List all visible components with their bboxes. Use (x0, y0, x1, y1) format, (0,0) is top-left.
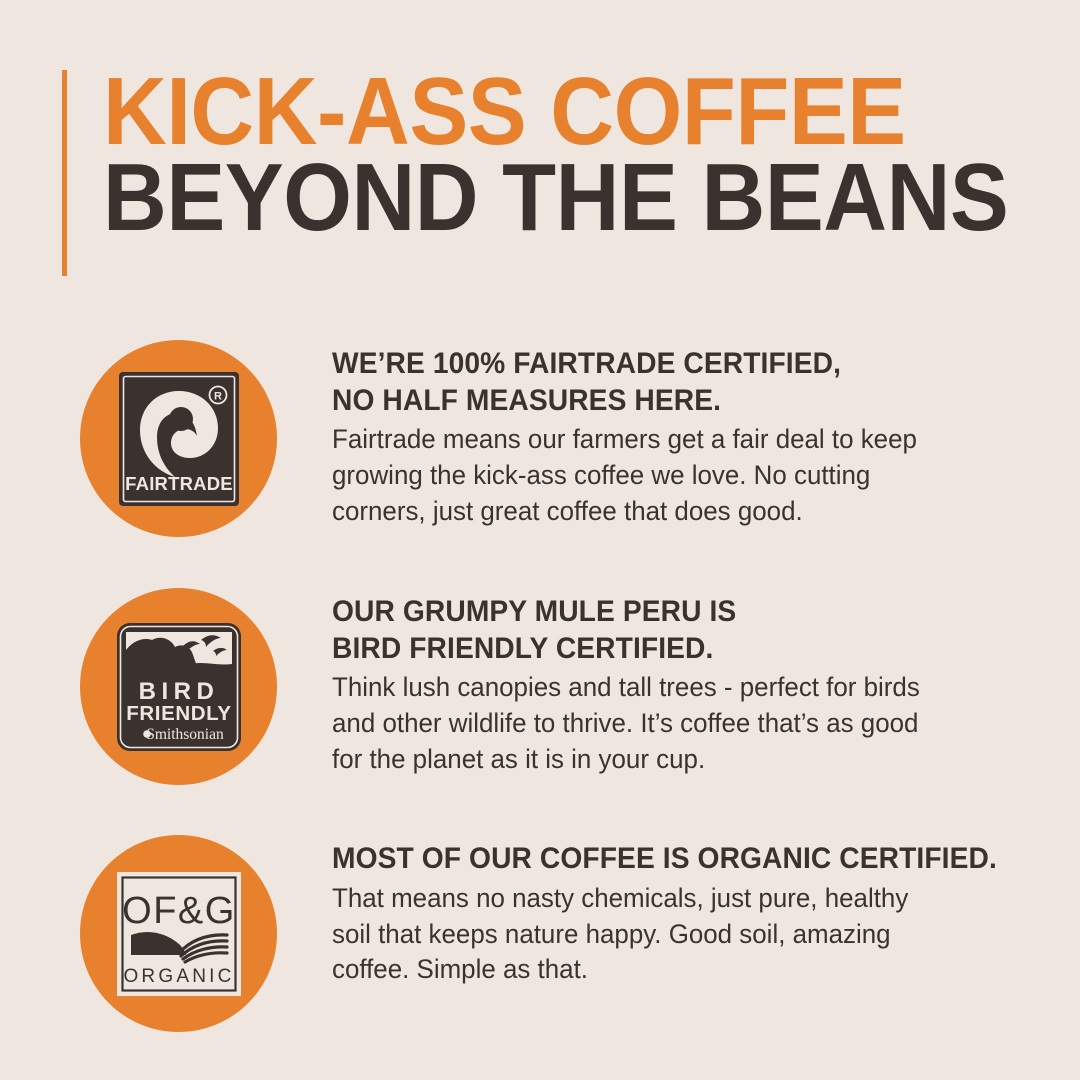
body-line: corners, just great coffee that does goo… (332, 494, 994, 530)
feature-heading-organic: MOST OF OUR COFFEE IS ORGANIC CERTIFIED. (332, 841, 981, 878)
bird-wordmark: BIRD (138, 678, 219, 705)
heading-line: BIRD FRIENDLY CERTIFIED. (332, 631, 981, 668)
feature-text-bird-friendly: OUR GRUMPY MULE PERU IS BIRD FRIENDLY CE… (332, 594, 1022, 778)
page-title-line-1: KICK-ASS COFFEE (103, 64, 949, 154)
badge-circle-organic: OF&G ORGANIC (80, 835, 277, 1032)
bird-friendly-icon: BIRD FRIENDLY Smithsonian (117, 623, 241, 751)
svg-text:R: R (214, 390, 222, 402)
feature-body-fairtrade: Fairtrade means our farmers get a fair d… (332, 422, 994, 530)
canopy-birds-graphic (126, 632, 232, 672)
heading-line: OUR GRUMPY MULE PERU IS (332, 594, 981, 631)
feature-body-organic: That means no nasty chemicals, just pure… (332, 881, 994, 989)
heading-line: MOST OF OUR COFFEE IS ORGANIC CERTIFIED. (332, 841, 981, 878)
fairtrade-icon: R FAIRTRADE (119, 372, 239, 506)
feature-text-organic: MOST OF OUR COFFEE IS ORGANIC CERTIFIED.… (332, 841, 1022, 988)
poster-canvas: KICK-ASS COFFEE BEYOND THE BEANS R FAIRT… (0, 0, 1080, 1080)
page-title-line-2: BEYOND THE BEANS (103, 154, 949, 240)
body-line: for the planet as it is in your cup. (332, 742, 994, 778)
feature-heading-bird-friendly: OUR GRUMPY MULE PERU IS BIRD FRIENDLY CE… (332, 594, 981, 667)
body-line: growing the kick-ass coffee we love. No … (332, 458, 994, 494)
orange-accent-bar (62, 70, 67, 276)
feature-heading-fairtrade: WE’RE 100% FAIRTRADE CERTIFIED, NO HALF … (332, 346, 981, 419)
heading-line: NO HALF MEASURES HERE. (332, 383, 981, 420)
body-line: and other wildlife to thrive. It’s coffe… (332, 706, 994, 742)
body-line: soil that keeps nature happy. Good soil,… (332, 917, 994, 953)
body-line: coffee. Simple as that. (332, 952, 994, 988)
body-line: Fairtrade means our farmers get a fair d… (332, 422, 994, 458)
body-line: Think lush canopies and tall trees - per… (332, 670, 994, 706)
body-line: That means no nasty chemicals, just pure… (332, 881, 994, 917)
organic-wordmark: ORGANIC (123, 966, 234, 987)
feature-text-fairtrade: WE’RE 100% FAIRTRADE CERTIFIED, NO HALF … (332, 346, 1022, 530)
headline-stack: KICK-ASS COFFEE BEYOND THE BEANS (103, 64, 1023, 241)
poster-header: KICK-ASS COFFEE BEYOND THE BEANS (62, 70, 1022, 276)
heading-line: WE’RE 100% FAIRTRADE CERTIFIED, (332, 346, 981, 383)
feature-body-bird-friendly: Think lush canopies and tall trees - per… (332, 670, 994, 778)
badge-circle-fairtrade: R FAIRTRADE (80, 340, 277, 537)
badge-circle-bird-friendly: BIRD FRIENDLY Smithsonian (80, 588, 277, 785)
fairtrade-wordmark: FAIRTRADE (125, 473, 233, 494)
ofg-organic-icon: OF&G ORGANIC (117, 872, 241, 996)
friendly-wordmark: FRIENDLY (126, 702, 231, 725)
ofg-wordmark: OF&G (122, 890, 236, 932)
smithsonian-wordmark: Smithsonian (146, 726, 224, 743)
